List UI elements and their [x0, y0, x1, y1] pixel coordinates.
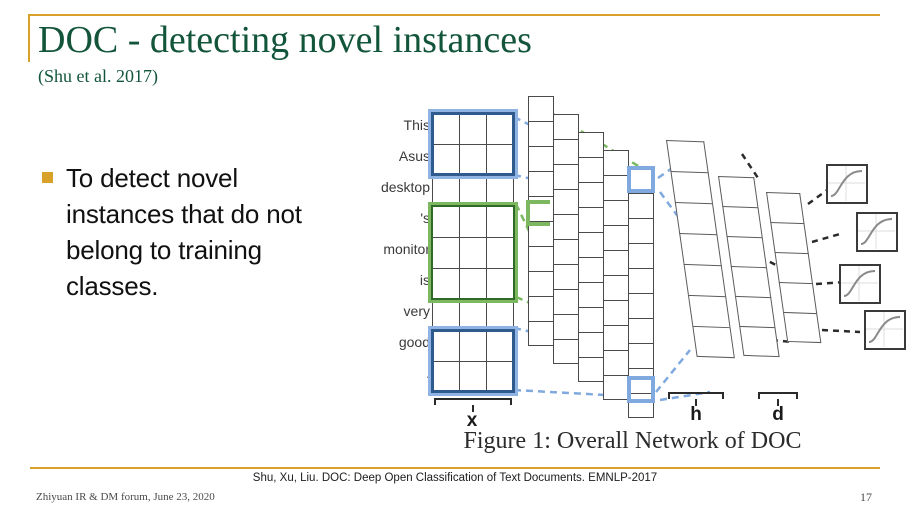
- conv-cell: [603, 225, 629, 250]
- conv-cell: [578, 282, 604, 307]
- axis-label-d: d: [758, 404, 798, 426]
- conv-cell: [603, 300, 629, 325]
- conv-cell: [603, 250, 629, 275]
- matrix-row: [432, 361, 514, 392]
- footer-citation: Shu, Xu, Liu. DOC: Deep Open Classificat…: [0, 472, 910, 484]
- conv-cell: [553, 339, 579, 364]
- figure-diagram: This Asus desktop 's monitor is very goo…: [360, 92, 905, 452]
- sigmoid-box: [839, 264, 881, 304]
- layer-cell: [675, 202, 718, 234]
- matrix-cell: [432, 175, 459, 206]
- matrix-cell: [459, 237, 486, 268]
- conv-cell: [603, 150, 629, 175]
- conv-cell: [578, 132, 604, 157]
- conv-cell: [628, 343, 654, 368]
- matrix-cell: [432, 237, 459, 268]
- figure-caption: Figure 1: Overall Network of DOC: [360, 428, 905, 455]
- conv-cell: [603, 325, 629, 350]
- conv-cell: [603, 175, 629, 200]
- conv-cell: [528, 121, 554, 146]
- matrix-row: [432, 299, 514, 330]
- page-number: 17: [860, 490, 872, 505]
- layer-cell: [735, 296, 775, 327]
- conv-column: [603, 150, 629, 400]
- matrix-cell: [432, 299, 459, 330]
- conv-cell: [553, 114, 579, 139]
- input-word: is: [368, 265, 430, 296]
- matrix-row: [432, 237, 514, 268]
- matrix-cell: [486, 175, 514, 206]
- conv-cell: [553, 189, 579, 214]
- matrix-cell: [432, 144, 459, 175]
- conv-cell: [603, 375, 629, 400]
- accent-top-rule: [28, 14, 880, 16]
- matrix-cell: [432, 361, 459, 392]
- layer-cell: [670, 171, 713, 203]
- input-word: .: [368, 358, 430, 389]
- layer-cell: [774, 252, 812, 283]
- input-word: This: [368, 110, 430, 141]
- input-word: very: [368, 296, 430, 327]
- matrix-cell: [432, 113, 459, 144]
- conv-cell: [578, 257, 604, 282]
- conv-cell: [553, 314, 579, 339]
- conv-cell: [528, 296, 554, 321]
- matrix-cell: [486, 330, 514, 361]
- page-title: DOC - detecting novel instances: [38, 18, 532, 62]
- matrix-cell: [486, 206, 514, 237]
- matrix-cell: [486, 299, 514, 330]
- conv-cell: [528, 96, 554, 121]
- input-word: 's: [368, 203, 430, 234]
- conv-cell: [553, 239, 579, 264]
- axis-label-h: h: [676, 404, 716, 426]
- footer-rule: [30, 467, 880, 469]
- layer-cell: [684, 264, 727, 296]
- layer-cell: [779, 282, 817, 313]
- matrix-row: [432, 268, 514, 299]
- layer-cell: [739, 326, 779, 357]
- input-word-labels: This Asus desktop 's monitor is very goo…: [368, 110, 430, 389]
- square-bullet-icon: [42, 172, 53, 183]
- matrix-cell: [486, 144, 514, 175]
- conv-cell: [553, 139, 579, 164]
- conv-cell: [553, 164, 579, 189]
- conv-cell: [628, 293, 654, 318]
- matrix-cell: [459, 330, 486, 361]
- conv-cell: [553, 289, 579, 314]
- matrix-row: [432, 206, 514, 237]
- matrix-cell: [486, 361, 514, 392]
- conv-cell-highlight-green: [526, 200, 550, 226]
- matrix-cell: [459, 175, 486, 206]
- footer-left-note: Zhiyuan IR & DM forum, June 23, 2020: [36, 491, 215, 503]
- matrix-cell: [459, 206, 486, 237]
- conv-cell: [578, 332, 604, 357]
- matrix-cell: [459, 268, 486, 299]
- matrix-cell: [486, 237, 514, 268]
- sigmoid-box: [856, 212, 898, 252]
- input-word: good: [368, 327, 430, 358]
- conv-cell: [528, 246, 554, 271]
- conv-cell: [628, 318, 654, 343]
- layer-cell: [688, 295, 731, 327]
- matrix-row: [432, 113, 514, 144]
- conv-cell: [603, 275, 629, 300]
- matrix-cell: [432, 268, 459, 299]
- conv-cell-highlight-blue-top: [627, 166, 655, 193]
- layer-cell: [666, 140, 709, 172]
- sigmoid-box: [826, 164, 868, 204]
- input-word: desktop: [368, 172, 430, 203]
- matrix-cell: [459, 299, 486, 330]
- output-brace: [758, 392, 798, 399]
- hidden-brace: [668, 392, 724, 399]
- matrix-row: [432, 330, 514, 361]
- input-matrix: [432, 113, 514, 392]
- conv-cell: [628, 218, 654, 243]
- layer-cell: [783, 312, 821, 343]
- matrix-row: [432, 175, 514, 206]
- layer-cell: [731, 266, 771, 297]
- matrix-cell: [432, 206, 459, 237]
- conv-cell: [628, 193, 654, 218]
- layer-cell: [766, 192, 804, 223]
- input-word: monitor: [368, 234, 430, 265]
- conv-cell: [578, 182, 604, 207]
- conv-cell: [578, 207, 604, 232]
- bullet-item: To detect novel instances that do not be…: [42, 160, 332, 304]
- conv-column: [553, 114, 579, 364]
- matrix-cell: [432, 330, 459, 361]
- slide: DOC - detecting novel instances (Shu et …: [0, 0, 910, 512]
- conv-cell: [603, 350, 629, 375]
- input-brace: [434, 398, 512, 405]
- layer-cell: [770, 222, 808, 253]
- accent-left-rule: [28, 14, 30, 62]
- matrix-cell: [459, 144, 486, 175]
- conv-column: [578, 132, 604, 382]
- conv-cell: [528, 171, 554, 196]
- conv-cell-highlight-blue-bottom: [627, 376, 655, 403]
- conv-cell: [528, 271, 554, 296]
- layer-cell: [722, 206, 762, 237]
- conv-cell: [628, 243, 654, 268]
- input-word: Asus: [368, 141, 430, 172]
- conv-cell: [528, 321, 554, 346]
- conv-cell: [553, 214, 579, 239]
- matrix-cell: [486, 113, 514, 144]
- conv-cell: [578, 157, 604, 182]
- conv-cell: [603, 200, 629, 225]
- matrix-cell: [459, 113, 486, 144]
- conv-cell: [578, 307, 604, 332]
- bullet-text: To detect novel instances that do not be…: [66, 160, 332, 304]
- conv-cell: [628, 268, 654, 293]
- layer-cell: [692, 326, 735, 358]
- page-subtitle: (Shu et al. 2017): [38, 66, 158, 87]
- matrix-cell: [459, 361, 486, 392]
- conv-cell: [553, 264, 579, 289]
- matrix-row: [432, 144, 514, 175]
- sigmoid-box: [864, 310, 906, 350]
- conv-cell: [578, 357, 604, 382]
- conv-cell: [528, 146, 554, 171]
- matrix-cell: [486, 268, 514, 299]
- layer-cell: [726, 236, 766, 267]
- layer-cell: [718, 176, 758, 207]
- layer-cell: [679, 233, 722, 265]
- conv-cell: [578, 232, 604, 257]
